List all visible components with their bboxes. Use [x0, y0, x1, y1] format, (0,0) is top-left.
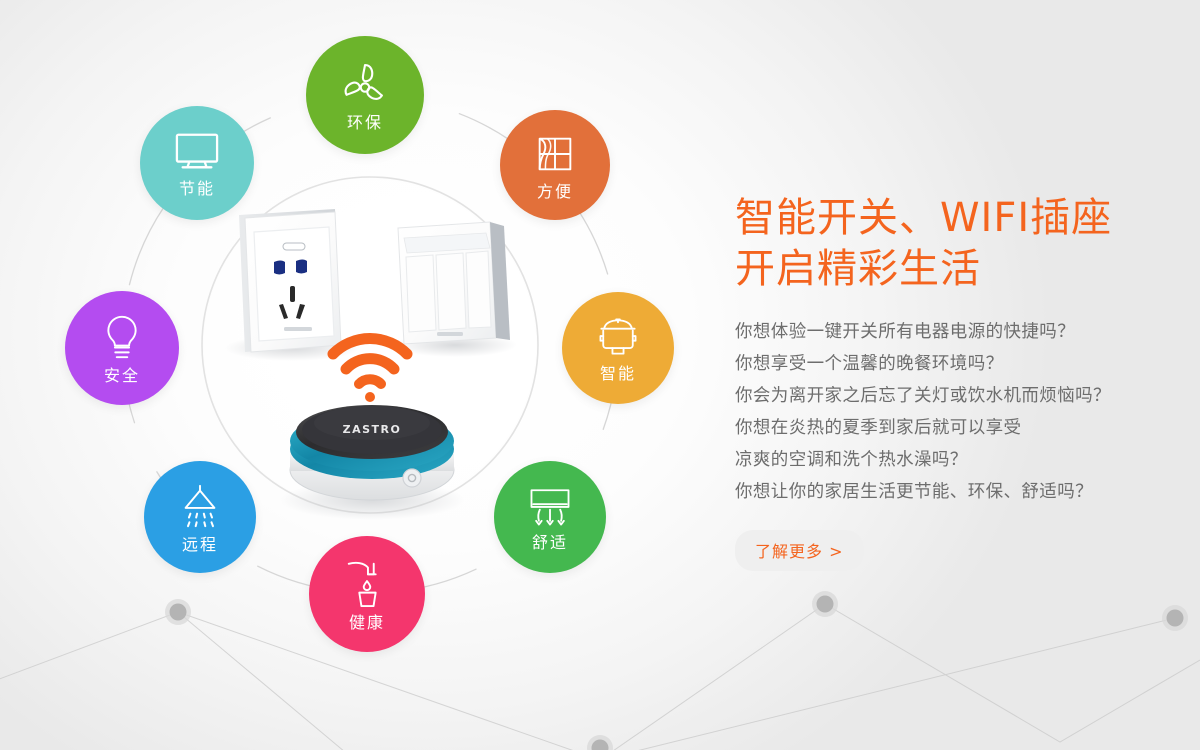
- feature-label: 健康: [349, 615, 385, 631]
- hero-description-line: 你想享受一个温馨的晚餐环境吗？: [735, 349, 1165, 381]
- feature-node-safety[interactable]: 安全: [65, 291, 179, 405]
- page-title-line1: 智能开关、WIFI插座: [735, 195, 1112, 241]
- feature-label: 环保: [347, 115, 383, 131]
- hero-description: 你想体验一键开关所有电器电源的快捷吗？ 你想享受一个温馨的晚餐环境吗？ 你会为离…: [735, 317, 1165, 508]
- feature-label: 智能: [600, 366, 636, 382]
- lightbulb-icon: [100, 313, 144, 365]
- tv-icon: [171, 130, 223, 178]
- feature-node-health[interactable]: 健康: [309, 536, 425, 652]
- window-curtain-icon: [532, 131, 578, 181]
- hero-description-line: 凉爽的空调和洗个热水澡吗？: [735, 445, 1165, 477]
- feature-label: 远程: [182, 537, 218, 553]
- hero-description-line: 你想在炎热的夏季到家后就可以享受: [735, 413, 1165, 445]
- hero-description-line: 你会为离开家之后忘了关灯或饮水机而烦恼吗？: [735, 381, 1165, 413]
- rice-cooker-icon: [594, 315, 642, 363]
- hero-banner: ZASTRO 环保: [0, 0, 1200, 750]
- page-title-line2: 开启精彩生活: [735, 244, 1165, 295]
- shower-icon: [176, 482, 224, 534]
- hero-description-line: 你想让你的家居生活更节能、环保、舒适吗？: [735, 477, 1165, 509]
- learn-more-button[interactable]: 了解更多 >: [735, 530, 864, 571]
- feature-label: 安全: [104, 368, 140, 384]
- feature-node-comfort[interactable]: 舒适: [494, 461, 606, 573]
- feature-node-smart[interactable]: 智能: [562, 292, 674, 404]
- feature-node-energy-saving[interactable]: 节能: [140, 106, 254, 220]
- feature-node-convenient[interactable]: 方便: [500, 110, 610, 220]
- faucet-glass-icon: [344, 558, 390, 612]
- inner-ring-glow: [204, 179, 536, 511]
- feature-label: 舒适: [532, 535, 568, 551]
- feature-label: 方便: [537, 184, 573, 200]
- hero-description-line: 你想体验一键开关所有电器电源的快捷吗？: [735, 317, 1165, 349]
- fan-icon: [341, 60, 389, 112]
- feature-node-eco[interactable]: 环保: [306, 36, 424, 154]
- air-conditioner-icon: [525, 484, 575, 532]
- page-title: 智能开关、WIFI插座 开启精彩生活: [735, 193, 1165, 295]
- hero-copy: 智能开关、WIFI插座 开启精彩生活 你想体验一键开关所有电器电源的快捷吗？ 你…: [735, 193, 1165, 571]
- feature-node-remote[interactable]: 远程: [144, 461, 256, 573]
- smart-home-diagram: ZASTRO 环保: [0, 0, 700, 750]
- feature-label: 节能: [179, 181, 215, 197]
